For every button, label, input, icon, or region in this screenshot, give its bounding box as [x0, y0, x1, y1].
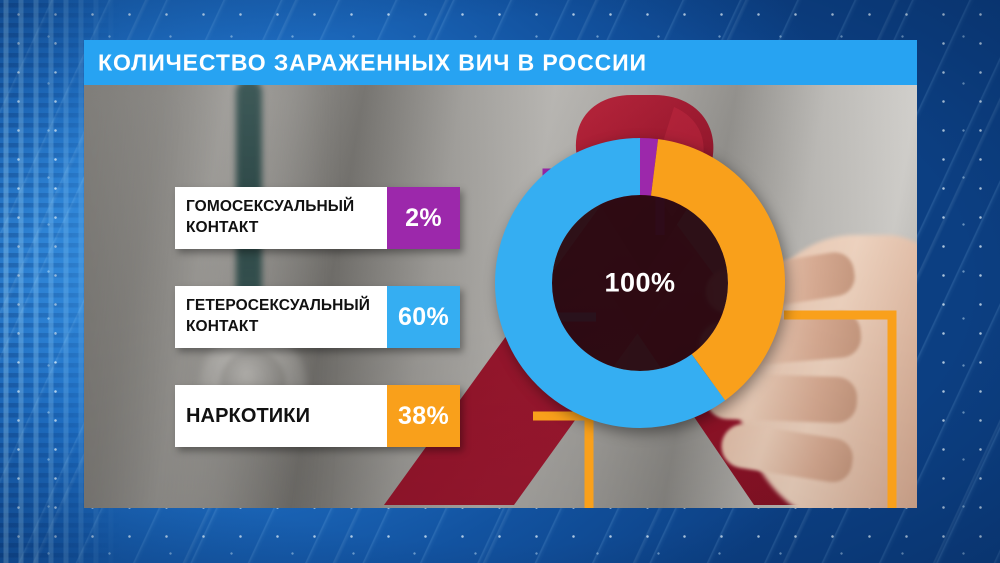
legend-label-heterosexual-contact: ГЕТЕРОСЕКСУАЛЬНЫЙ КОНТАКТ	[175, 286, 387, 348]
legend-label-line1: ГЕТЕРОСЕКСУАЛЬНЫЙ	[186, 296, 379, 317]
infographic-card: КОЛИЧЕСТВО ЗАРАЖЕННЫХ ВИЧ В РОССИИ	[84, 40, 917, 508]
legend-row-drugs[interactable]: НАРКОТИКИ 38%	[175, 385, 460, 447]
page-title: КОЛИЧЕСТВО ЗАРАЖЕННЫХ ВИЧ В РОССИИ	[98, 49, 647, 76]
legend-percent-heterosexual-contact: 60%	[387, 286, 460, 348]
legend-row-heterosexual-contact[interactable]: ГЕТЕРОСЕКСУАЛЬНЫЙ КОНТАКТ 60%	[175, 286, 460, 348]
legend-label-line2: КОНТАКТ	[186, 317, 379, 338]
legend-label-drugs: НАРКОТИКИ	[175, 385, 387, 447]
legend-label-line1: ГОМОСЕКСУАЛЬНЫЙ	[186, 197, 379, 218]
legend-percent-homosexual-contact: 2%	[387, 187, 460, 249]
legend-row-homosexual-contact[interactable]: ГОМОСЕКСУАЛЬНЫЙ КОНТАКТ 2%	[175, 187, 460, 249]
legend-percent-drugs: 38%	[387, 385, 460, 447]
infographic-screen: КОЛИЧЕСТВО ЗАРАЖЕННЫХ ВИЧ В РОССИИ	[0, 0, 1000, 563]
legend-label-line2: КОНТАКТ	[186, 218, 379, 239]
donut-hole	[552, 195, 728, 371]
donut-chart-svg	[495, 138, 785, 428]
legend-label-line1: НАРКОТИКИ	[186, 403, 379, 430]
title-bar: КОЛИЧЕСТВО ЗАРАЖЕННЫХ ВИЧ В РОССИИ	[84, 40, 917, 85]
donut-chart: 100%	[495, 138, 785, 428]
legend-label-homosexual-contact: ГОМОСЕКСУАЛЬНЫЙ КОНТАКТ	[175, 187, 387, 249]
